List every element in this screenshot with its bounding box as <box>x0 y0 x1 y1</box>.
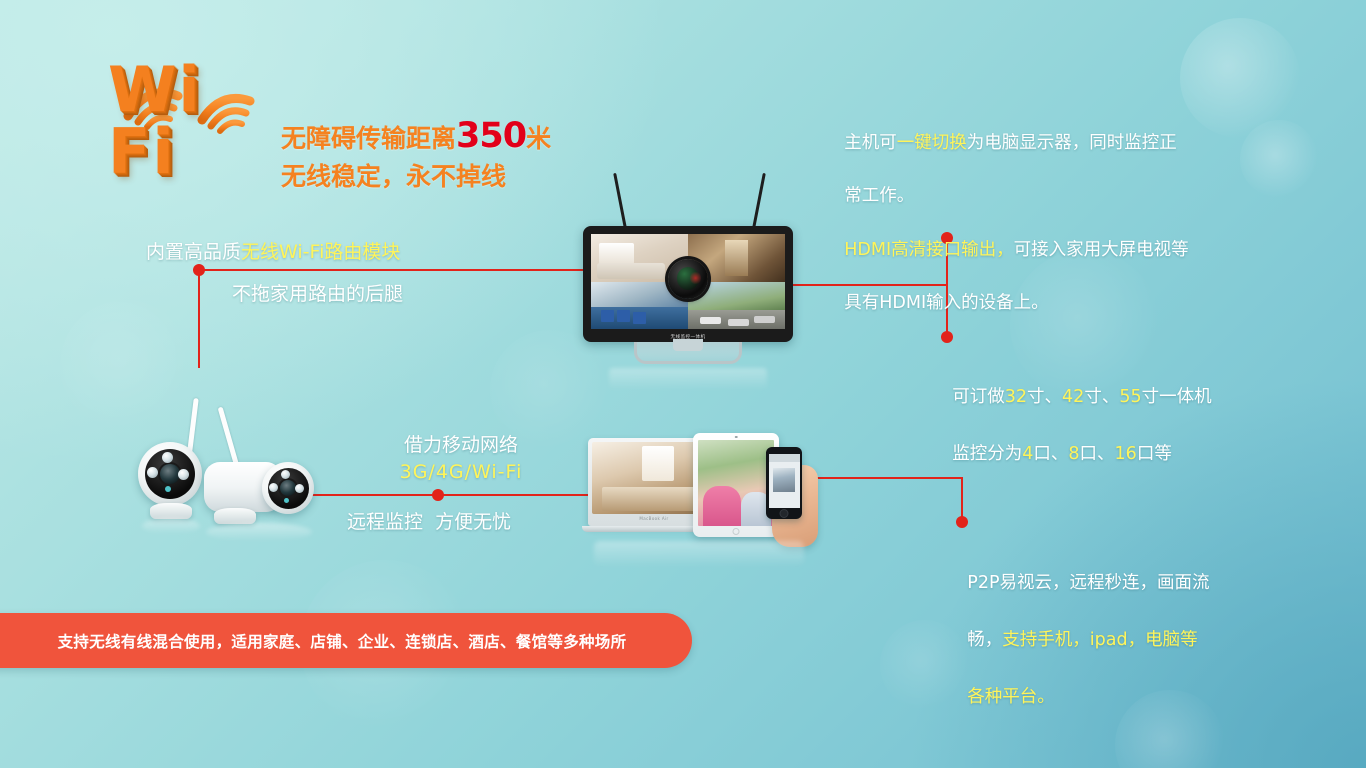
callout-router-line1: 内置高品质无线Wi-Fi路由模块 <box>146 239 400 267</box>
callout-host-line3-suffix: 可接入家用大屏电视等 <box>1014 240 1189 260</box>
sizes-42: 42 <box>1062 387 1084 407</box>
connector-line-mobile <box>304 494 596 496</box>
connector-dot-cloud <box>956 516 968 528</box>
camera-reflection <box>206 523 312 541</box>
cloud-line2-prefix: 畅， <box>967 630 1002 650</box>
camera-ir-led <box>281 470 290 479</box>
phone-in-hand <box>766 447 818 547</box>
camera-ir-led <box>147 467 158 478</box>
camera-ir-led <box>269 483 278 492</box>
bottom-banner: 支持无线有线混合使用，适用家庭、店铺、企业、连锁店、酒店、餐馆等多种场所 <box>0 613 692 668</box>
headline-prefix: 无障碍传输距离 <box>281 124 456 153</box>
camera-front-panel <box>145 449 195 499</box>
callout-router-line2: 不拖家用路由的后腿 <box>232 281 403 309</box>
sizes-d: 寸一体机 <box>1142 387 1212 407</box>
cloud-line3-highlight: 各种平台。 <box>967 687 1055 707</box>
callout-router-highlight: 无线Wi-Fi路由模块 <box>241 241 400 263</box>
headline-distance-number: 350 <box>456 116 526 156</box>
callout-host-suffix: 为电脑显示器，同时监控正 <box>967 133 1177 153</box>
ports-16: 16 <box>1115 444 1137 464</box>
connector-line-router-vertical <box>198 270 200 368</box>
camera-lens-icon <box>160 464 180 484</box>
sizes-55: 55 <box>1119 387 1141 407</box>
headline: 无障碍传输距离350米 无线稳定，永不掉线 <box>281 112 581 195</box>
callout-cloud: P2P易视云，远程秒连，画面流 畅，支持手机，ipad，电脑等 各种平台。 <box>945 541 1250 739</box>
devices-reflection <box>594 541 804 567</box>
camera-status-led <box>165 486 171 492</box>
headline-line1: 无障碍传输距离350米 <box>281 112 581 160</box>
connector-line-router-horizontal <box>198 269 585 271</box>
bokeh-circle <box>1240 120 1318 198</box>
callout-sizes: 可订做32寸、42寸、55寸一体机 监控分为4口、8口、16口等 <box>930 355 1260 497</box>
callout-host-line4: 具有HDMI输入的设备上。 <box>844 293 1048 313</box>
phone-device <box>766 447 802 519</box>
callout-host: 主机可一键切换为电脑显示器，同时监控正 常工作。 HDMI高清接口输出，可接入家… <box>822 103 1242 344</box>
headline-line2: 无线稳定，永不掉线 <box>281 160 581 195</box>
camera-mount <box>214 508 256 524</box>
sizes-b: 寸、 <box>1027 387 1062 407</box>
tablet-home-button[interactable] <box>733 528 740 535</box>
wifi-logo-text: Wi Fi <box>108 59 283 183</box>
camera-housing <box>138 442 202 506</box>
callout-mobile-line3: 远程监控 方便无忧 <box>347 509 577 537</box>
wifi-logo: Wi Fi <box>108 78 283 183</box>
monitor-bezel: 无线监控一体机 <box>583 226 793 342</box>
phone-home-button[interactable] <box>780 509 789 518</box>
callout-host-line2: 常工作。 <box>844 186 914 206</box>
camera-front-panel <box>268 468 309 509</box>
bottom-banner-text: 支持无线有线混合使用，适用家庭、店铺、企业、连锁店、酒店、餐馆等多种场所 <box>58 630 627 652</box>
headline-unit: 米 <box>526 124 551 153</box>
callout-host-hdmi-highlight: HDMI高清接口输出， <box>844 240 1013 260</box>
ports-d: 口等 <box>1137 444 1172 464</box>
sizes-32: 32 <box>1005 387 1027 407</box>
cloud-line2-highlight: 支持手机，ipad，电脑等 <box>1002 630 1197 650</box>
camera-lens-icon <box>280 480 296 496</box>
ports-a: 监控分为 <box>952 444 1022 464</box>
callout-host-prefix: 主机可 <box>844 133 897 153</box>
monitor-stand <box>634 342 742 364</box>
callout-router-prefix: 内置高品质 <box>146 241 241 263</box>
cloud-line1: P2P易视云，远程秒连，画面流 <box>967 573 1209 593</box>
monitor-reflection <box>609 368 767 390</box>
sizes-c: 寸、 <box>1084 387 1119 407</box>
camera-mount <box>150 503 192 519</box>
ports-4: 4 <box>1022 444 1033 464</box>
sizes-a: 可订做 <box>952 387 1005 407</box>
camera-ir-led <box>162 452 173 463</box>
camera-status-led <box>284 498 289 503</box>
monitor-device: 无线监控一体机 <box>583 172 793 362</box>
connector-dot-mobile <box>432 489 444 501</box>
infographic-canvas: Wi Fi 无障碍传输距离350米 无线稳定，永不掉线 内置高品质无线Wi-Fi… <box>0 0 1366 768</box>
tablet-front-camera-icon <box>735 436 738 439</box>
camera-antenna <box>218 407 240 468</box>
ports-b: 口、 <box>1033 444 1068 464</box>
callout-mobile-line2: 3G/4G/Wi-Fi <box>383 459 539 487</box>
camera-lens-overlay-icon <box>668 259 708 299</box>
camera-reflection <box>142 518 200 534</box>
tablet-screen <box>698 440 774 526</box>
camera-group <box>128 398 338 558</box>
camera-housing <box>262 462 314 514</box>
client-devices-group: MacBook Air <box>588 433 818 548</box>
camera-ir-led <box>178 469 189 480</box>
callout-mobile-line1: 借力移动网络 <box>383 432 539 460</box>
phone-screen <box>769 454 800 508</box>
wireless-camera-angled <box>206 404 336 534</box>
callout-host-highlight: 一键切换 <box>897 133 967 153</box>
camera-ir-led <box>295 484 304 493</box>
ports-8: 8 <box>1068 444 1079 464</box>
ports-c: 口、 <box>1080 444 1115 464</box>
